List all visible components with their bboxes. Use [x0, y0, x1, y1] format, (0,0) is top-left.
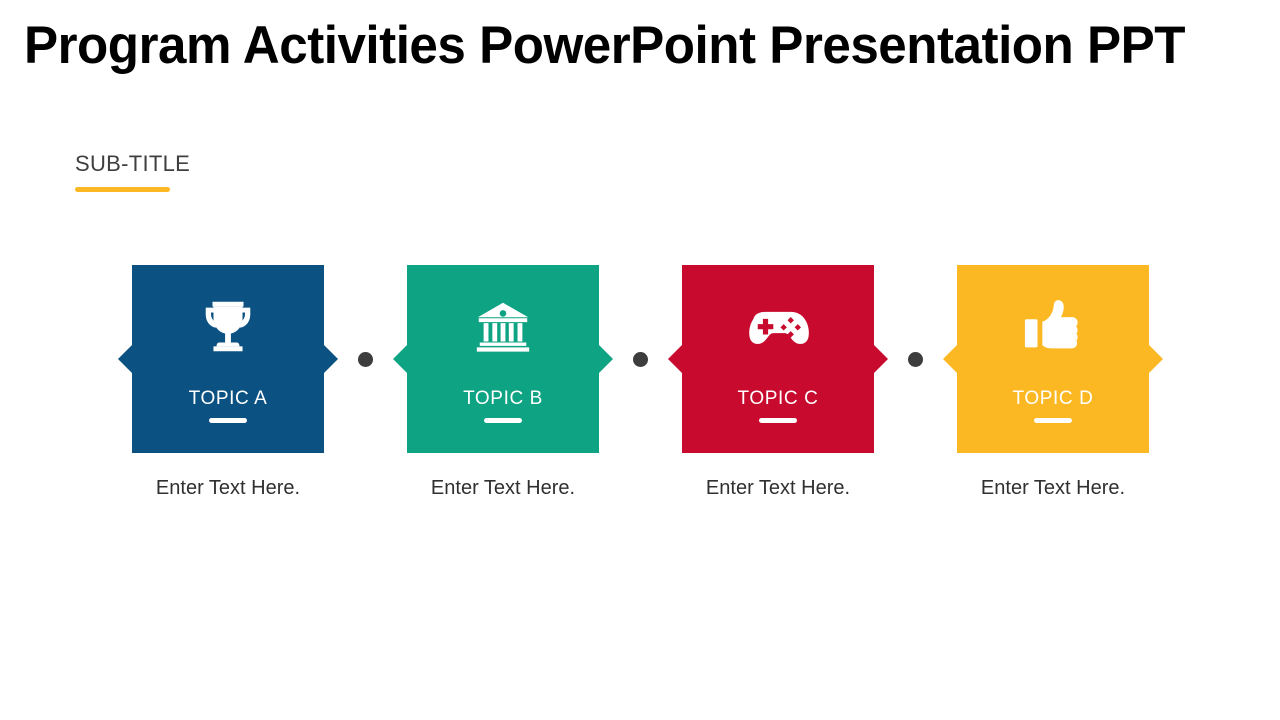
card-right-arrow-tip	[324, 345, 338, 373]
trophy-icon	[132, 287, 324, 365]
card-left-arrow-tip	[393, 345, 407, 373]
card-right-arrow-tip	[1149, 345, 1163, 373]
topic-card-background: TOPIC C	[682, 265, 874, 453]
topic-card-background: TOPIC A	[132, 265, 324, 453]
card-left-arrow-tip	[943, 345, 957, 373]
topic-card-label: TOPIC C	[682, 387, 874, 411]
card-right-arrow-tip	[599, 345, 613, 373]
topic-card[interactable]: TOPIC BEnter Text Here.	[407, 265, 599, 515]
topic-card[interactable]: TOPIC AEnter Text Here.	[132, 265, 324, 515]
topic-card-shape: TOPIC D	[957, 265, 1149, 453]
topic-card[interactable]: TOPIC DEnter Text Here.	[957, 265, 1149, 515]
topic-card-underline	[484, 418, 522, 423]
subtitle-text: SUB-TITLE	[75, 150, 190, 178]
subtitle-block: SUB-TITLE	[75, 150, 190, 192]
topic-card-row: TOPIC AEnter Text Here. TOPIC BEnter Tex…	[0, 265, 1280, 515]
topic-card-caption[interactable]: Enter Text Here.	[652, 475, 904, 501]
topic-card-label: TOPIC B	[407, 387, 599, 411]
card-right-arrow-tip	[874, 345, 888, 373]
bank-building-icon	[407, 287, 599, 365]
topic-card-caption[interactable]: Enter Text Here.	[927, 475, 1179, 501]
page-title: Program Activities PowerPoint Presentati…	[24, 14, 1221, 78]
topic-card-shape: TOPIC B	[407, 265, 599, 453]
card-left-arrow-tip	[668, 345, 682, 373]
separator-dot	[358, 352, 373, 367]
topic-card-underline	[759, 418, 797, 423]
topic-card-shape: TOPIC C	[682, 265, 874, 453]
topic-card-shape: TOPIC A	[132, 265, 324, 453]
topic-card-background: TOPIC D	[957, 265, 1149, 453]
card-left-arrow-tip	[118, 345, 132, 373]
topic-card[interactable]: TOPIC CEnter Text Here.	[682, 265, 874, 515]
topic-card-underline	[1034, 418, 1072, 423]
topic-card-background: TOPIC B	[407, 265, 599, 453]
topic-card-label: TOPIC A	[132, 387, 324, 411]
topic-card-caption[interactable]: Enter Text Here.	[102, 475, 354, 501]
gamepad-icon	[682, 287, 874, 365]
separator-dot	[633, 352, 648, 367]
subtitle-underline	[75, 187, 170, 192]
topic-card-caption[interactable]: Enter Text Here.	[377, 475, 629, 501]
topic-card-underline	[209, 418, 247, 423]
separator-dot	[908, 352, 923, 367]
thumbs-up-icon	[957, 287, 1149, 365]
topic-card-label: TOPIC D	[957, 387, 1149, 411]
